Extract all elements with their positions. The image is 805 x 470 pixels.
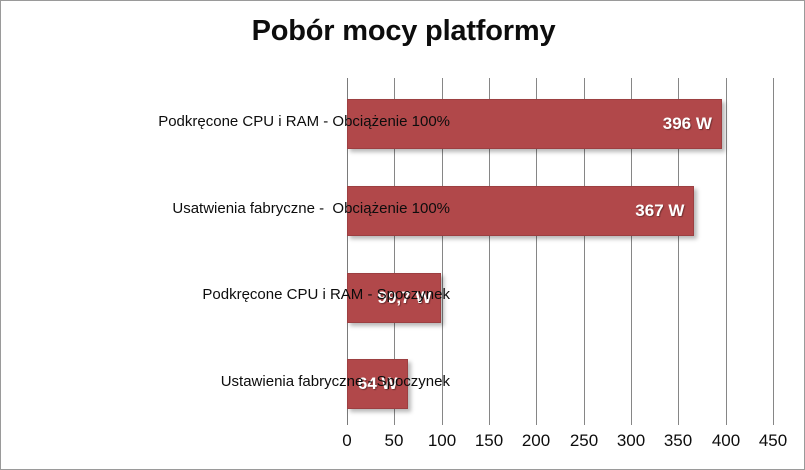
category-label: Podkręcone CPU i RAM - Spoczynek: [110, 252, 450, 339]
x-tick-label-150: 150: [475, 431, 503, 451]
x-tick-label-350: 350: [664, 431, 692, 451]
chart-title: Pobór mocy platformy: [1, 15, 805, 48]
x-tick-label-200: 200: [522, 431, 550, 451]
value-axis: 050100150200250300350400450: [347, 431, 773, 459]
x-tick-label-50: 50: [385, 431, 404, 451]
x-tick-label-450: 450: [759, 431, 787, 451]
x-tick-label-300: 300: [617, 431, 645, 451]
bar-value-label: 367 W: [635, 201, 684, 221]
category-label: Podkręcone CPU i RAM - Obciążenie 100%: [110, 78, 450, 165]
category-label: Ustawienia fabryczne - Spoczynek: [110, 338, 450, 425]
x-tick-label-250: 250: [570, 431, 598, 451]
x-tick-label-0: 0: [342, 431, 351, 451]
x-tick-label-100: 100: [428, 431, 456, 451]
chart-container: Pobór mocy platformy 396 W367 W99,7 W64 …: [0, 0, 805, 470]
x-tick-label-400: 400: [712, 431, 740, 451]
bar-value-label: 396 W: [663, 114, 712, 134]
category-label: Usatwienia fabryczne - Obciążenie 100%: [110, 165, 450, 252]
gridline-450: [773, 78, 774, 425]
